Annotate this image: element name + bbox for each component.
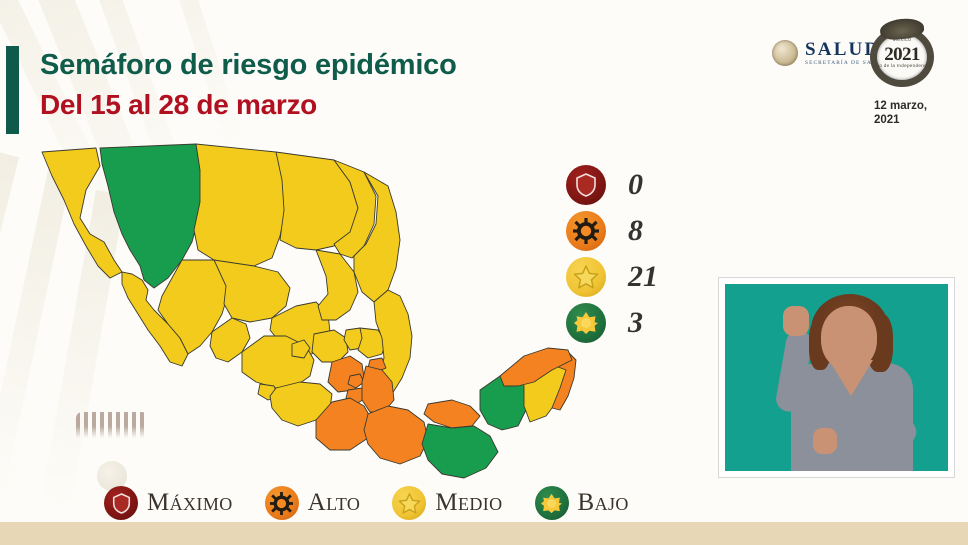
- heroes-figures-icon: [76, 412, 148, 438]
- gear-icon: [265, 486, 299, 520]
- legend-item-alto[interactable]: Alto: [265, 486, 361, 520]
- page-title-block: Semáforo de riesgo epidémico Del 15 al 2…: [40, 48, 457, 122]
- title-accent-bar: [6, 46, 19, 134]
- state-guanajuato[interactable]: [312, 330, 348, 362]
- mexico-2021-logo: México 2021 Año de la Independencia: [870, 27, 934, 87]
- star-icon: [392, 486, 426, 520]
- count-value-maximo: 0: [628, 168, 676, 202]
- interpreter-screen: [725, 284, 948, 471]
- sunburst-icon: [535, 486, 569, 520]
- state-chihuahua[interactable]: [194, 144, 286, 266]
- ribbon-stripe: [0, 150, 19, 477]
- legend-item-maximo[interactable]: Máximo: [104, 486, 233, 520]
- slide-date: 12 marzo, 2021: [874, 99, 944, 127]
- shield-icon: [566, 165, 606, 205]
- count-row-medio: 21: [566, 254, 676, 300]
- legend-item-medio[interactable]: Medio: [392, 486, 502, 520]
- bottom-accent-strip: [0, 522, 968, 545]
- legend-label-bajo: Bajo: [578, 489, 629, 517]
- semaforo-legend: Máximo: [104, 486, 661, 520]
- state-oaxaca[interactable]: [364, 406, 428, 464]
- count-value-bajo: 3: [628, 306, 676, 340]
- mexico-logo-bottom-text: Año de la Independencia: [870, 63, 934, 69]
- gobierno-watermark: [62, 412, 162, 491]
- state-chiapas[interactable]: [422, 424, 498, 478]
- page-title: Semáforo de riesgo epidémico: [40, 48, 457, 83]
- shield-icon: [104, 486, 138, 520]
- legend-label-alto: Alto: [308, 489, 361, 517]
- semaforo-counts: 0: [566, 162, 676, 346]
- slide-canvas: Semáforo de riesgo epidémico Del 15 al 2…: [0, 0, 968, 545]
- count-value-medio: 21: [628, 260, 676, 294]
- mexico-logo-top-text: México: [870, 37, 934, 43]
- state-san-luis-potosi[interactable]: [316, 250, 358, 320]
- count-row-alto: 8: [566, 208, 676, 254]
- count-row-maximo: 0: [566, 162, 676, 208]
- watermark-caption: [62, 441, 162, 446]
- national-seal-icon: [772, 40, 798, 66]
- state-tabasco[interactable]: [424, 400, 480, 428]
- legend-label-maximo: Máximo: [147, 489, 233, 517]
- state-durango[interactable]: [214, 260, 290, 322]
- interpreter-raised-hand: [783, 306, 809, 336]
- interpreter-lower-hand: [813, 428, 837, 454]
- legend-label-medio: Medio: [435, 489, 502, 517]
- gear-icon: [566, 211, 606, 251]
- star-icon: [566, 257, 606, 297]
- count-row-bajo: 3: [566, 300, 676, 346]
- count-value-alto: 8: [628, 214, 676, 248]
- watermark-wordmark: [62, 447, 162, 457]
- sunburst-icon: [566, 303, 606, 343]
- page-subtitle: Del 15 al 28 de marzo: [40, 87, 457, 122]
- sign-language-interpreter-video[interactable]: [718, 277, 955, 478]
- legend-item-bajo[interactable]: Bajo: [535, 486, 629, 520]
